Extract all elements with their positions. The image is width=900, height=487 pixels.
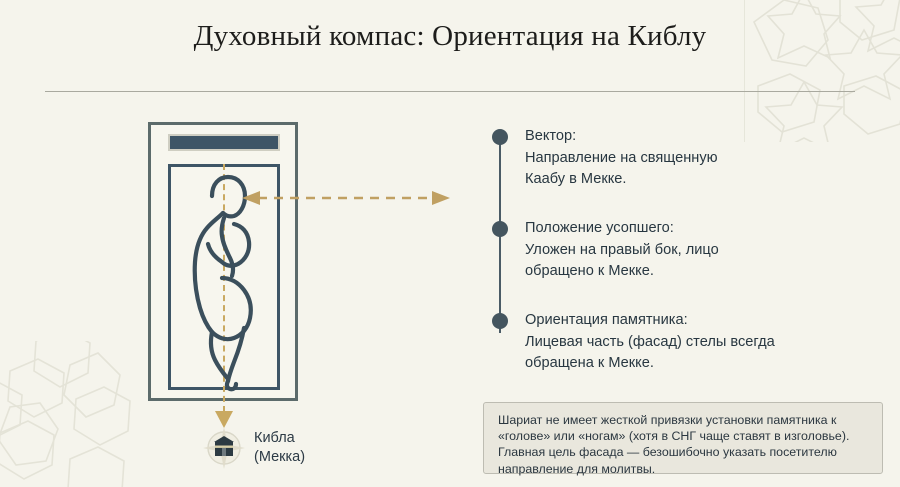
kaaba-marker-label: Кибла(Мекка) — [254, 429, 305, 467]
grave-orientation-diagram: Кибла(Мекка) — [120, 110, 340, 480]
kaaba-label-line2: (Мекка) — [254, 449, 305, 465]
bullet-list: Вектор: Направление на священную Каабу в… — [492, 125, 892, 340]
bullet-item-monument-orientation: Ориентация памятника: Лицевая часть (фас… — [525, 310, 775, 375]
sharia-note-text: Шариат не имеет жесткой привязки установ… — [498, 412, 869, 477]
bullet-dot-1-icon — [492, 129, 508, 145]
bullet-item-body-position: Положение усопшего: Уложен на правый бок… — [525, 218, 719, 283]
title-divider — [45, 91, 855, 92]
slide-root: Духовный компас: Ориентация на Киблу — [0, 0, 900, 487]
kaaba-label-line1: Кибла — [254, 430, 295, 446]
kaaba-compass-icon — [202, 426, 246, 470]
bullet-dot-3-icon — [492, 313, 508, 329]
bullet-item-vector: Вектор: Направление на священную Каабу в… — [525, 126, 718, 191]
stele-bar — [168, 134, 280, 151]
bullet-dot-2-icon — [492, 221, 508, 237]
double-headed-qibla-arrow-icon — [240, 188, 452, 208]
page-title: Духовный компас: Ориентация на Киблу — [0, 20, 900, 53]
sharia-note-box: Шариат не имеет жесткой привязки установ… — [483, 402, 883, 474]
